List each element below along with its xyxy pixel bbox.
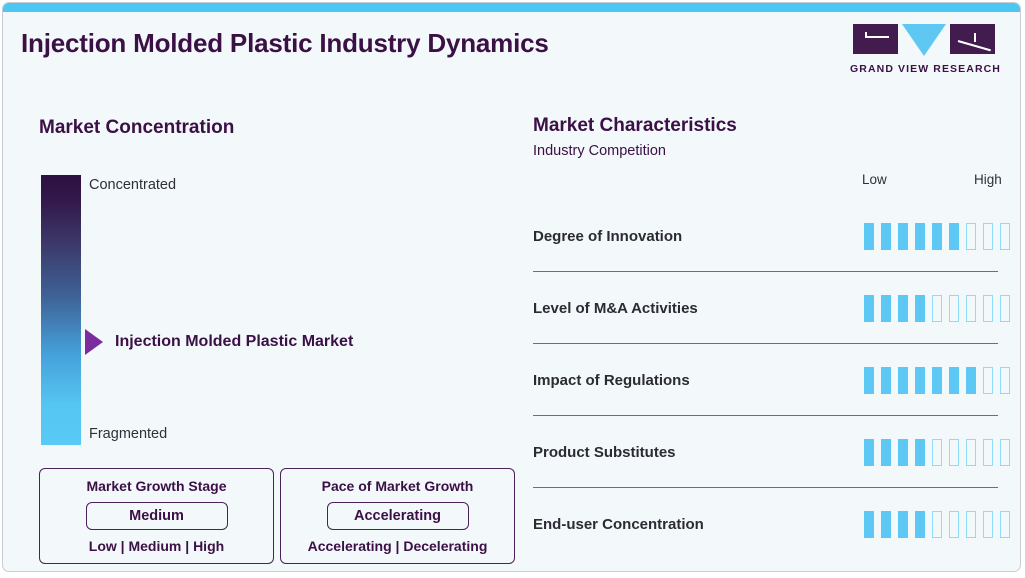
rating-segment-filled: [898, 295, 908, 322]
rating-segment-filled: [864, 223, 874, 250]
pace-of-market-growth-scale: Accelerating | Decelerating: [293, 538, 502, 554]
rating-segment-filled: [915, 439, 925, 466]
market-characteristics-title: Market Characteristics: [533, 115, 737, 137]
rating-segment-filled: [898, 367, 908, 394]
concentration-gradient-scale: [41, 175, 81, 445]
rating-segment-filled: [898, 439, 908, 466]
characteristic-row-inner: Level of M&A Activities: [533, 272, 1013, 344]
brand-logo: GRAND VIEW RESEARCH: [850, 24, 998, 75]
pace-of-market-growth-title: Pace of Market Growth: [293, 478, 502, 494]
rating-segment-empty: [983, 439, 993, 466]
pace-of-market-growth-box: Pace of Market Growth Accelerating Accel…: [280, 468, 515, 564]
rating-segment-empty: [983, 295, 993, 322]
rating-segment-filled: [881, 439, 891, 466]
rating-segment-empty: [983, 367, 993, 394]
rating-bar-group: [864, 511, 1013, 538]
market-growth-stage-scale: Low | Medium | High: [52, 538, 261, 554]
logo-triangle-icon: [902, 24, 946, 56]
characteristic-row: End-user Concentration: [533, 488, 1013, 560]
characteristic-row-inner: Impact of Regulations: [533, 344, 1013, 416]
scale-label-fragmented: Fragmented: [89, 426, 167, 442]
rating-segment-filled: [881, 511, 891, 538]
characteristic-row-inner: Product Substitutes: [533, 416, 1013, 488]
market-growth-stage-title: Market Growth Stage: [52, 478, 261, 494]
rating-scale-low-label: Low: [862, 172, 887, 187]
rating-segment-filled: [864, 511, 874, 538]
rating-segment-filled: [898, 223, 908, 250]
scale-label-concentrated: Concentrated: [89, 177, 176, 193]
rating-segment-filled: [898, 511, 908, 538]
characteristic-row-inner: Degree of Innovation: [533, 200, 1013, 272]
rating-scale-high-label: High: [974, 172, 1002, 187]
characteristic-row: Impact of Regulations: [533, 344, 1013, 416]
characteristic-row: Level of M&A Activities: [533, 272, 1013, 344]
rating-segment-filled: [915, 511, 925, 538]
rating-segment-empty: [932, 511, 942, 538]
rating-bar-group: [864, 223, 1013, 250]
rating-bar-group: [864, 367, 1013, 394]
header: Injection Molded Plastic Industry Dynami…: [3, 12, 1020, 90]
rating-segment-filled: [915, 367, 925, 394]
characteristic-label: End-user Concentration: [533, 516, 864, 533]
characteristic-label: Impact of Regulations: [533, 372, 864, 389]
rating-segment-filled: [881, 223, 891, 250]
rating-segment-filled: [915, 223, 925, 250]
characteristic-row-inner: End-user Concentration: [533, 488, 1013, 560]
rating-segment-empty: [966, 439, 976, 466]
arrow-right-icon: [85, 329, 103, 355]
rating-segment-empty: [932, 295, 942, 322]
rating-segment-filled: [881, 367, 891, 394]
characteristic-row: Product Substitutes: [533, 416, 1013, 488]
logo-right-block-icon: [950, 24, 995, 54]
rating-segment-filled: [864, 439, 874, 466]
rating-segment-empty: [966, 223, 976, 250]
rating-segment-empty: [1000, 223, 1010, 250]
rating-segment-empty: [966, 295, 976, 322]
logo-left-bar-vertical: [865, 32, 867, 37]
rating-bar-group: [864, 439, 1013, 466]
rating-segment-empty: [1000, 511, 1010, 538]
rating-segment-empty: [1000, 439, 1010, 466]
rating-scale-header: Low High: [533, 172, 1013, 192]
market-growth-stage-value: Medium: [86, 502, 228, 530]
characteristic-row: Degree of Innovation: [533, 200, 1013, 272]
rating-bar-group: [864, 295, 1013, 322]
logo-left-block-icon: [853, 24, 898, 54]
rating-segment-empty: [949, 439, 959, 466]
characteristics-rows: Degree of InnovationLevel of M&A Activit…: [533, 200, 1013, 560]
logo-right-tick: [974, 33, 976, 42]
rating-segment-filled: [932, 367, 942, 394]
rating-segment-filled: [966, 367, 976, 394]
rating-segment-filled: [949, 223, 959, 250]
rating-segment-empty: [1000, 295, 1010, 322]
characteristic-label: Product Substitutes: [533, 444, 864, 461]
rating-segment-empty: [932, 439, 942, 466]
pace-of-market-growth-value: Accelerating: [327, 502, 469, 530]
rating-segment-empty: [983, 511, 993, 538]
top-accent-bar: [3, 3, 1020, 12]
characteristic-label: Degree of Innovation: [533, 228, 864, 245]
logo-marks: [850, 24, 998, 58]
rating-segment-empty: [949, 295, 959, 322]
market-position-marker: Injection Molded Plastic Market: [85, 329, 353, 355]
rating-segment-empty: [949, 511, 959, 538]
market-growth-stage-box: Market Growth Stage Medium Low | Medium …: [39, 468, 274, 564]
rating-segment-filled: [864, 367, 874, 394]
rating-segment-empty: [983, 223, 993, 250]
rating-segment-filled: [915, 295, 925, 322]
characteristic-label: Level of M&A Activities: [533, 300, 864, 317]
page-title: Injection Molded Plastic Industry Dynami…: [21, 28, 549, 59]
rating-segment-empty: [966, 511, 976, 538]
logo-left-bar-horizontal: [865, 36, 889, 38]
rating-segment-empty: [1000, 367, 1010, 394]
market-characteristics-panel: Market Characteristics Industry Competit…: [518, 95, 1021, 572]
market-characteristics-subtitle: Industry Competition: [533, 143, 666, 159]
rating-segment-filled: [949, 367, 959, 394]
rating-segment-filled: [932, 223, 942, 250]
market-concentration-title: Market Concentration: [39, 117, 234, 139]
logo-wordmark: GRAND VIEW RESEARCH: [850, 63, 998, 75]
rating-segment-filled: [864, 295, 874, 322]
infographic-card: Injection Molded Plastic Industry Dynami…: [2, 2, 1021, 572]
market-position-label: Injection Molded Plastic Market: [115, 333, 353, 351]
growth-info-boxes: Market Growth Stage Medium Low | Medium …: [39, 468, 515, 564]
rating-segment-filled: [881, 295, 891, 322]
market-concentration-panel: Market Concentration Concentrated Fragme…: [3, 95, 518, 572]
